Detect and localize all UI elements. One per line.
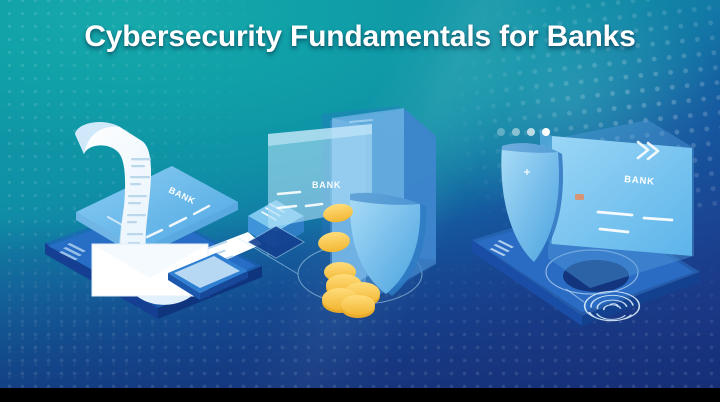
progress-dot-2[interactable]: [512, 128, 520, 136]
scene-left-bank-card-receipt: BANK: [45, 122, 262, 319]
progress-dot-4[interactable]: [542, 128, 550, 136]
banner-title: Cybersecurity Fundamentals for Banks: [84, 20, 635, 55]
bottom-black-bar: [0, 388, 720, 402]
banner-canvas: Cybersecurity Fundamentals for Banks: [0, 0, 720, 402]
progress-dot-3[interactable]: [527, 128, 535, 136]
scene-right-biometric-shield: BANK: [472, 120, 700, 326]
title-container: Cybersecurity Fundamentals for Banks: [0, 20, 720, 55]
bank-card-right: BANK: [540, 120, 694, 288]
scene-center-mobile-payment-shield: BANK: [238, 106, 436, 318]
progress-dot-1[interactable]: [497, 128, 505, 136]
progress-dots[interactable]: [497, 128, 550, 136]
card-label-center: BANK: [312, 180, 341, 190]
illustration-group: BANK: [0, 96, 720, 356]
